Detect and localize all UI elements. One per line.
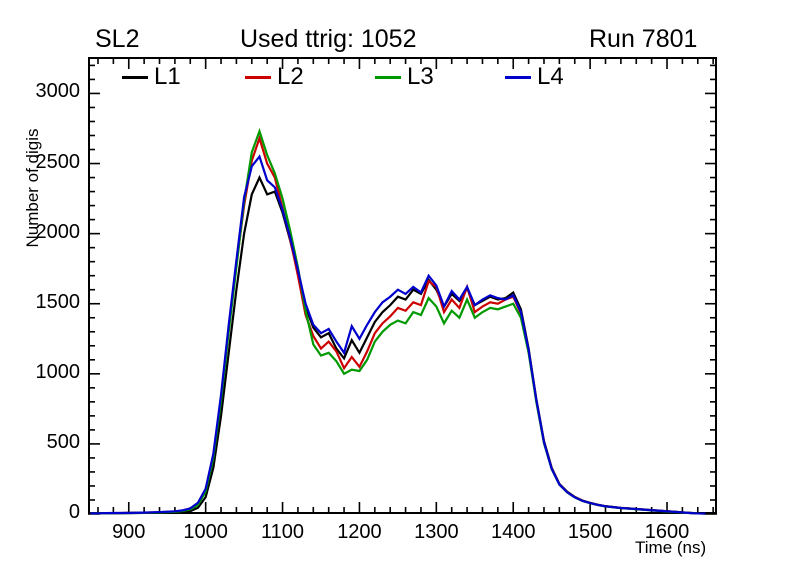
plot-frame [88, 57, 717, 514]
y-tick-label: 1500 [10, 291, 80, 314]
y-tick-label: 0 [10, 501, 80, 524]
y-tick-label: 3000 [10, 80, 80, 103]
chart-title: Used ttrig: 1052 [240, 25, 417, 54]
legend-label-l1: L1 [154, 63, 181, 91]
legend-label-l3: L3 [407, 63, 434, 91]
chart-root: SL2 Used ttrig: 1052 Run 7801 Number of … [0, 0, 796, 572]
y-tick-label: 2500 [10, 151, 80, 174]
legend-swatch-l4 [505, 76, 531, 79]
y-tick-label: 2000 [10, 221, 80, 244]
legend-swatch-l3 [375, 76, 401, 79]
legend-swatch-l1 [122, 76, 148, 79]
run-label: Run 7801 [589, 25, 697, 54]
legend-label-l2: L2 [277, 63, 304, 91]
legend-label-l4: L4 [537, 63, 564, 91]
x-tick-label: 1600 [622, 521, 712, 544]
y-axis-label: Number of digis [23, 108, 43, 268]
y-tick-label: 500 [10, 431, 80, 454]
legend-swatch-l2 [245, 76, 271, 79]
superlayer-label: SL2 [95, 25, 139, 54]
y-tick-label: 1000 [10, 361, 80, 384]
